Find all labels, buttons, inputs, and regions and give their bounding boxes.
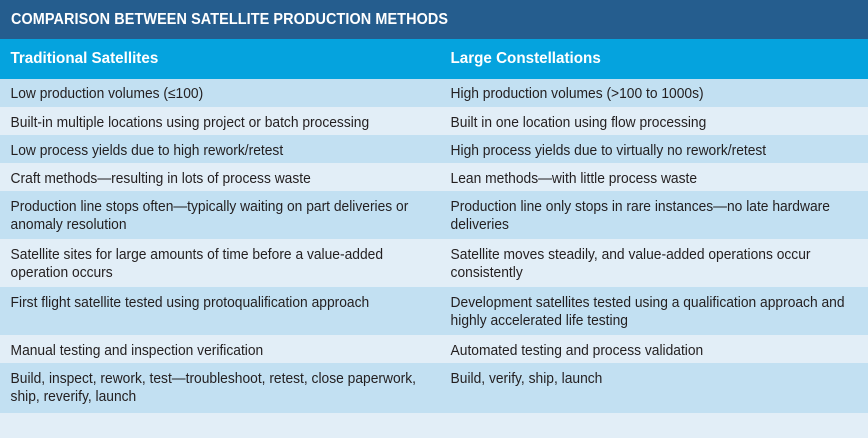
cell-constellations: Development satellites tested using a qu…: [440, 288, 851, 336]
cell-constellations: Lean methods—with little process waste: [440, 164, 851, 195]
cell-constellations: High production volumes (>100 to 1000s): [440, 79, 851, 110]
column-header-large-constellations: Large Constellations: [440, 51, 847, 67]
table-row: Manual testing and inspection verificati…: [0, 335, 868, 363]
table-row: Production line stops often—typically wa…: [0, 191, 868, 239]
cell-traditional: Built-in multiple locations using projec…: [0, 108, 422, 139]
cell-constellations: Automated testing and process validation: [440, 336, 851, 367]
table-row: Low production volumes (≤100) High produ…: [0, 79, 868, 107]
cell-traditional: Low production volumes (≤100): [0, 79, 422, 110]
table-row: First flight satellite tested using prot…: [0, 287, 868, 335]
cell-constellations: High process yields due to virtually no …: [440, 136, 851, 167]
cell-traditional: Satellite sites for large amounts of tim…: [0, 240, 422, 288]
table-column-header-row: Traditional Satellites Large Constellati…: [0, 39, 868, 79]
table-row: Built-in multiple locations using projec…: [0, 107, 868, 135]
cell-constellations: Built in one location using flow process…: [440, 108, 851, 139]
cell-constellations: Satellite moves steadily, and value-adde…: [440, 240, 851, 288]
cell-traditional: Craft methods—resulting in lots of proce…: [0, 164, 422, 195]
cell-traditional: First flight satellite tested using prot…: [0, 288, 422, 319]
table-body: Low production volumes (≤100) High produ…: [0, 79, 868, 438]
column-header-traditional-satellites: Traditional Satellites: [0, 51, 418, 67]
cell-traditional: Manual testing and inspection verificati…: [0, 336, 422, 367]
table-row: Low process yields due to high rework/re…: [0, 135, 868, 163]
table-row: Craft methods—resulting in lots of proce…: [0, 163, 868, 191]
cell-constellations: Production line only stops in rare insta…: [440, 192, 851, 240]
page-title: COMPARISON BETWEEN SATELLITE PRODUCTION …: [11, 12, 448, 28]
cell-traditional: Build, inspect, rework, test—troubleshoo…: [0, 364, 422, 412]
cell-constellations: Build, verify, ship, launch: [440, 364, 851, 395]
cell-traditional: Production line stops often—typically wa…: [0, 192, 422, 240]
table-title-bar: COMPARISON BETWEEN SATELLITE PRODUCTION …: [0, 0, 868, 39]
cell-traditional: Low process yields due to high rework/re…: [0, 136, 422, 167]
table-row: Build, inspect, rework, test—troubleshoo…: [0, 363, 868, 413]
comparison-table-figure: COMPARISON BETWEEN SATELLITE PRODUCTION …: [0, 0, 868, 438]
table-row: Satellite sites for large amounts of tim…: [0, 239, 868, 287]
